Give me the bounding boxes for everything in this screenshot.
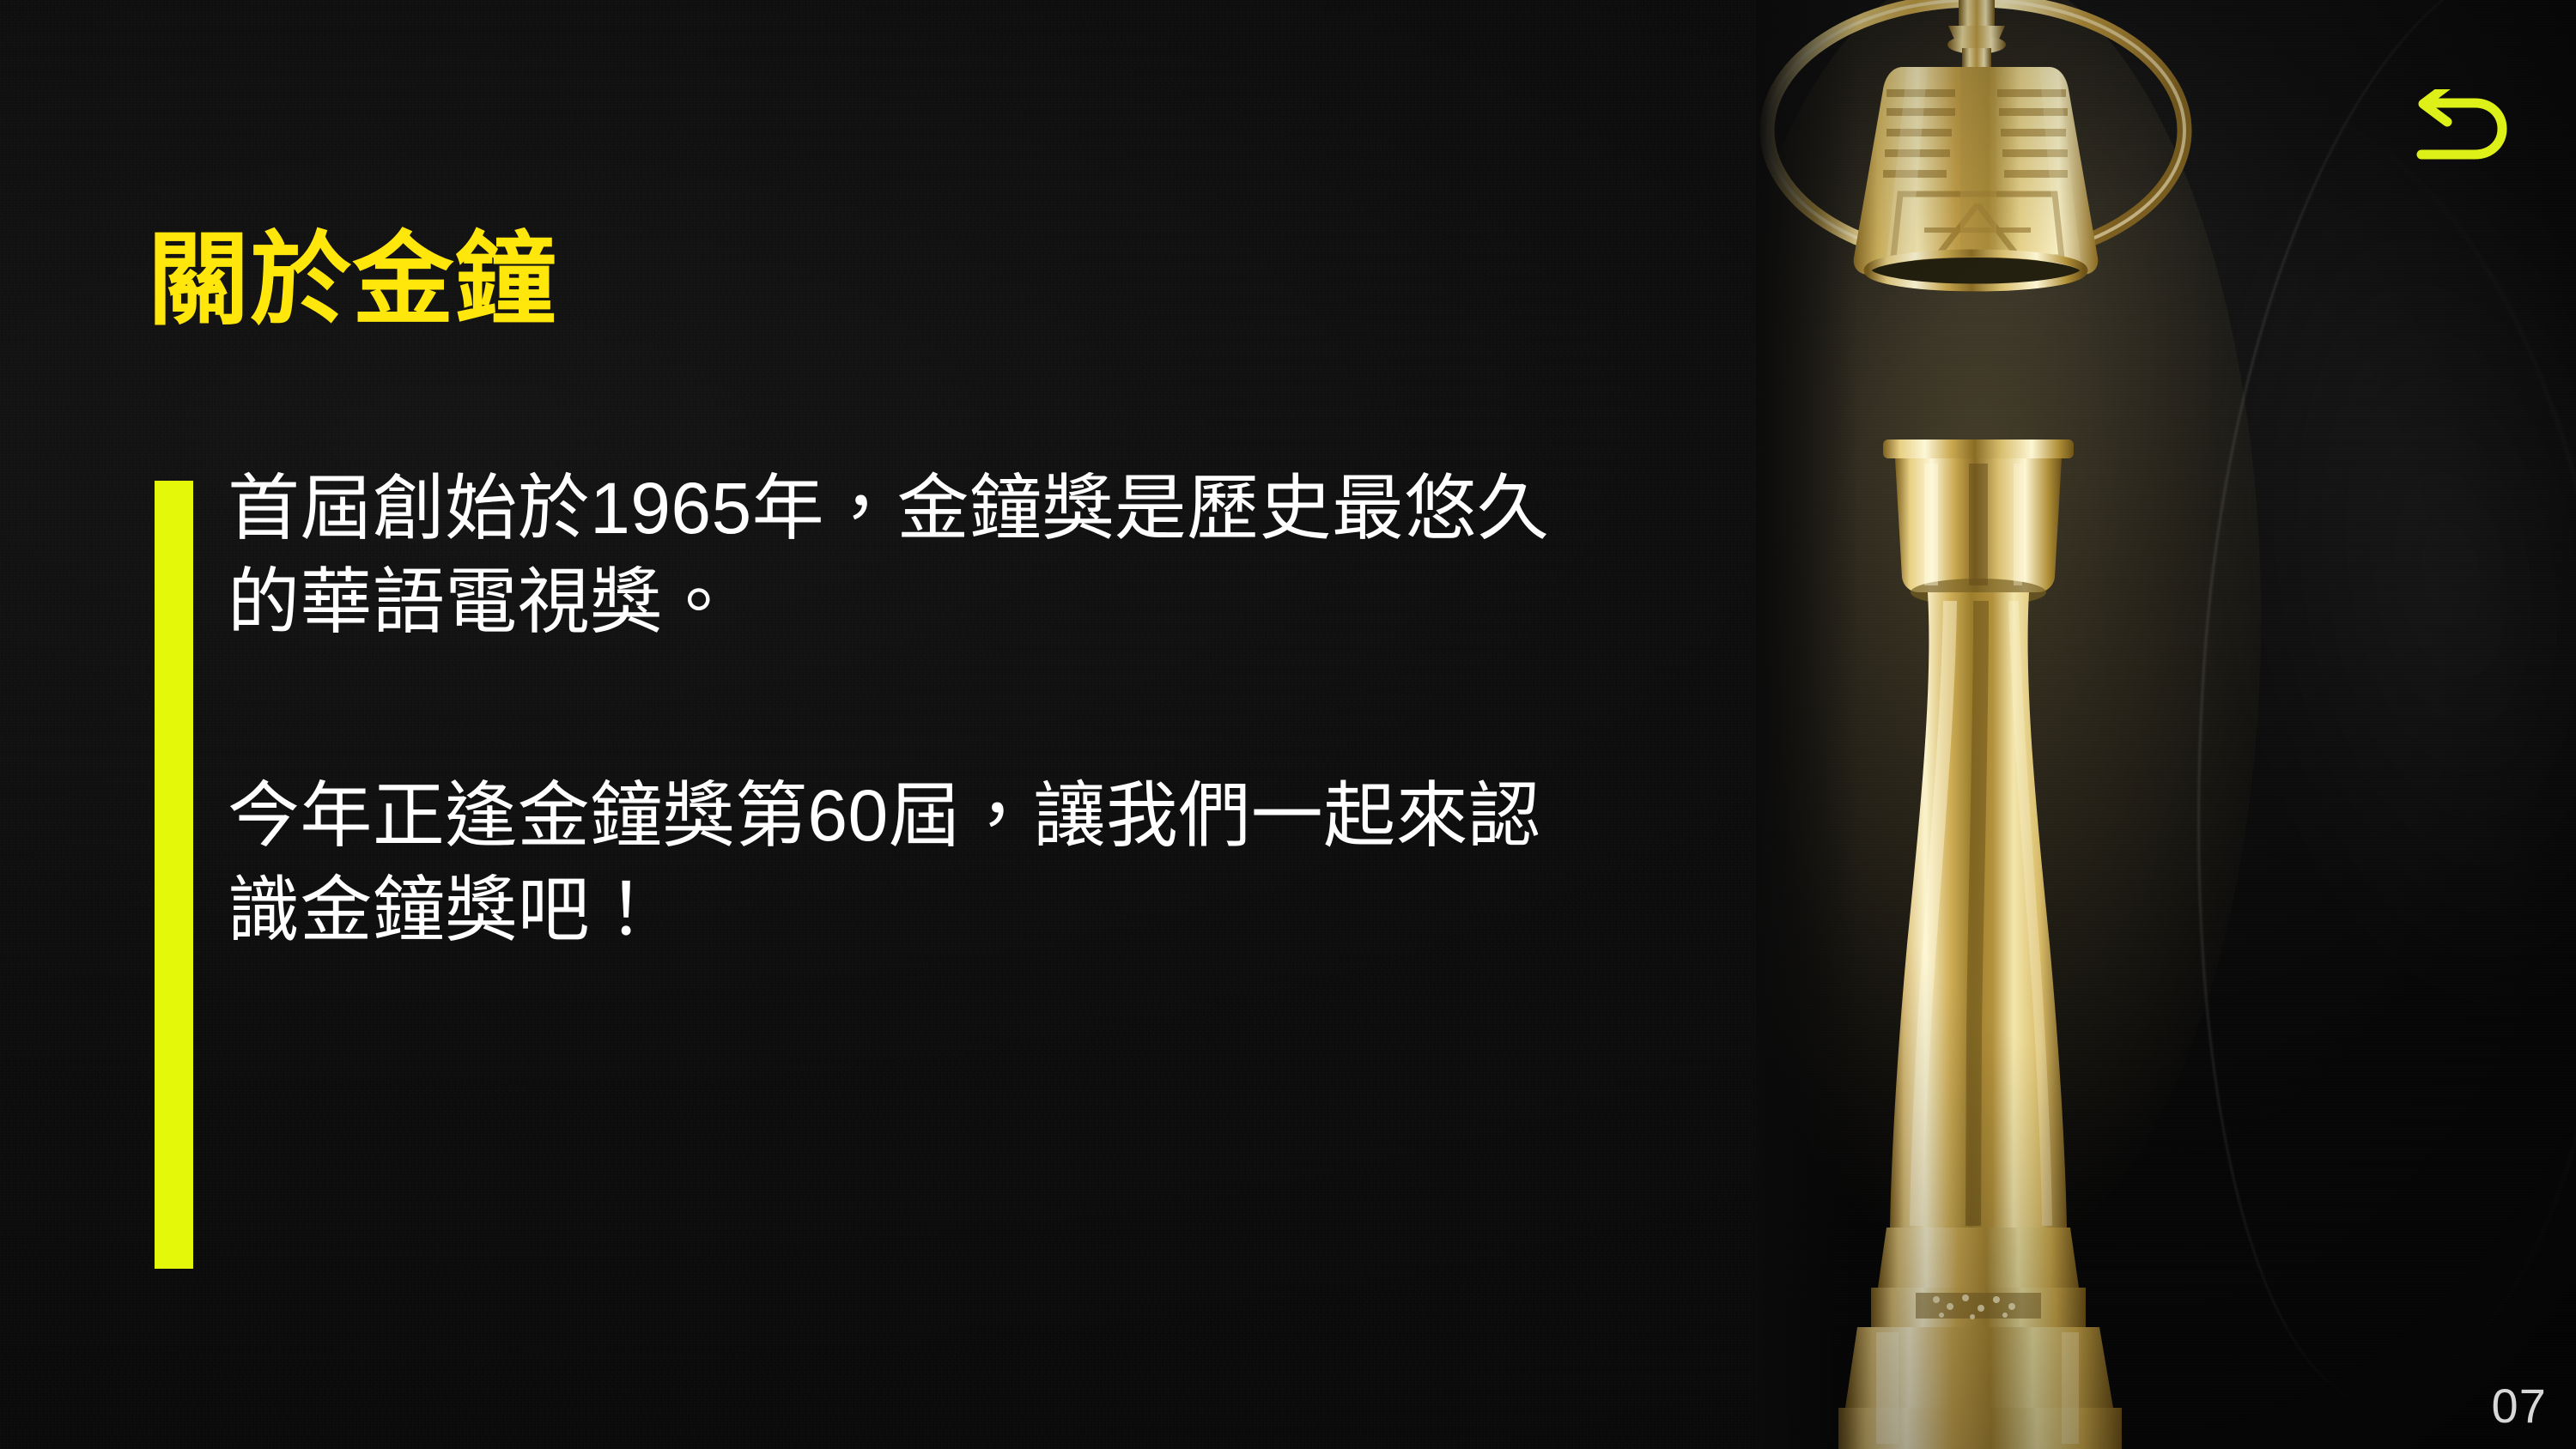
page-title: 關於金鐘	[148, 229, 557, 332]
return-arrow-icon[interactable]	[2413, 89, 2514, 172]
panel-left-fade	[1756, 0, 1859, 1449]
paragraph-spacer	[228, 649, 1567, 769]
paragraph-first: 首屆創始於1965年，金鐘獎是歷史最悠久的華語電視獎。	[228, 462, 1567, 649]
body-content-block: 首屆創始於1965年，金鐘獎是歷史最悠久的華語電視獎。 今年正逢金鐘獎第60屆，…	[155, 481, 1614, 1270]
panel-vignette	[1756, 0, 2576, 1449]
trophy-photo-panel	[1756, 0, 2576, 1449]
accent-bar	[155, 481, 193, 1269]
page-number: 07	[2491, 1378, 2547, 1434]
slide-about-golden-bell: 關於金鐘 首屆創始於1965年，金鐘獎是歷史最悠久的華語電視獎。 今年正逢金鐘獎…	[0, 0, 2576, 1449]
paragraph-second: 今年正逢金鐘獎第60屆，讓我們一起來認識金鐘獎吧！	[228, 769, 1567, 956]
paragraph-group: 首屆創始於1965年，金鐘獎是歷史最悠久的華語電視獎。 今年正逢金鐘獎第60屆，…	[228, 462, 1567, 957]
